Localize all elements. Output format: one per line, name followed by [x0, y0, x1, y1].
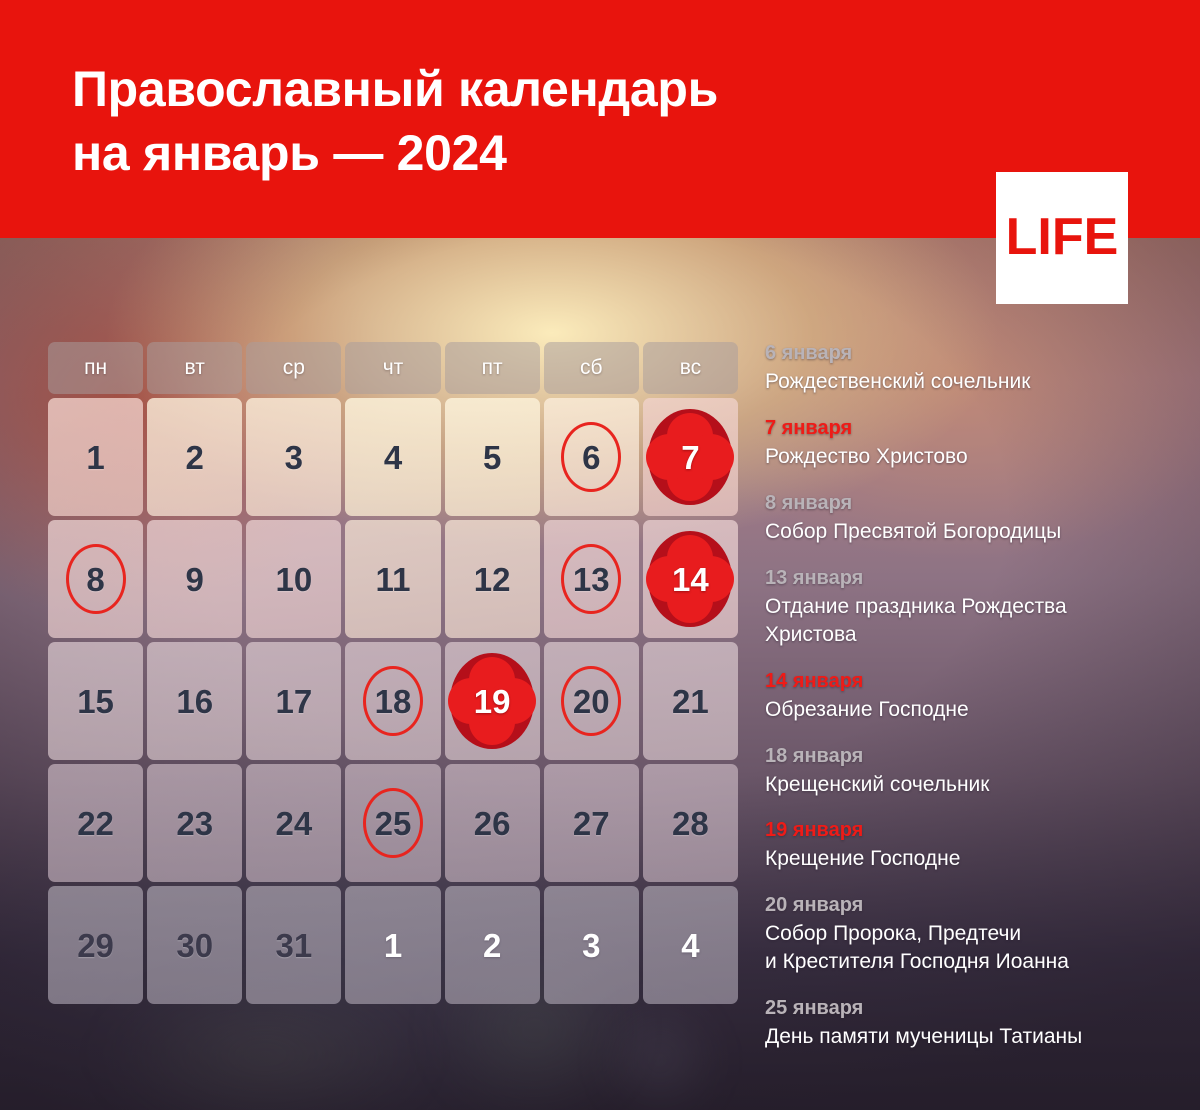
calendar-day-number: 27	[573, 807, 610, 840]
calendar-day-cell[interactable]: 21	[643, 642, 738, 760]
event-name: Отдание праздника Рождества Христова	[765, 593, 1165, 649]
event-item: 14 январяОбрезание Господне	[765, 668, 1165, 724]
calendar-day-number: 23	[176, 807, 213, 840]
calendar-day-cell[interactable]: 25	[345, 764, 440, 882]
calendar-day-cell[interactable]: 19	[445, 642, 540, 760]
calendar-day-cell[interactable]: 3	[246, 398, 341, 516]
weekday-header-пт: пт	[445, 342, 540, 394]
event-date: 8 января	[765, 490, 1165, 517]
calendar-day-number: 21	[672, 685, 709, 718]
calendar-day-number: 4	[384, 441, 402, 474]
calendar-day-cell[interactable]: 22	[48, 764, 143, 882]
calendar-day-number: 14	[672, 563, 709, 596]
calendar-day-cell[interactable]: 31	[246, 886, 341, 1004]
calendar-day-cell[interactable]: 13	[544, 520, 639, 638]
calendar-day-number: 20	[573, 685, 610, 718]
calendar-day-number: 11	[376, 563, 411, 596]
calendar-day-cell[interactable]: 18	[345, 642, 440, 760]
calendar-day-cell[interactable]: 26	[445, 764, 540, 882]
calendar-day-number: 22	[77, 807, 114, 840]
calendar-day-cell[interactable]: 16	[147, 642, 242, 760]
calendar-week-row: 891011121314	[48, 520, 738, 638]
event-date: 14 января	[765, 668, 1165, 695]
event-date: 7 января	[765, 415, 1165, 442]
calendar-week-row: 2930311234	[48, 886, 738, 1004]
event-date: 13 января	[765, 565, 1165, 592]
calendar-day-number: 4	[681, 929, 699, 962]
calendar-day-number: 29	[77, 929, 114, 962]
weekday-header-пн: пн	[48, 342, 143, 394]
event-date: 18 января	[765, 743, 1165, 770]
life-logo: LIFE	[996, 172, 1128, 304]
calendar-day-number: 2	[186, 441, 204, 474]
event-item: 19 январяКрещение Господне	[765, 817, 1165, 873]
event-item: 8 январяСобор Пресвятой Богородицы	[765, 490, 1165, 546]
weekday-header-row: пнвтсрчтптсбвс	[48, 342, 738, 394]
event-name: Собор Пресвятой Богородицы	[765, 518, 1165, 546]
event-name: День памяти мученицы Татианы	[765, 1023, 1165, 1051]
calendar-day-number: 19	[474, 685, 511, 718]
calendar-day-number: 3	[285, 441, 303, 474]
calendar-day-number: 16	[176, 685, 213, 718]
event-item: 13 январяОтдание праздника Рождества Хри…	[765, 565, 1165, 649]
calendar-day-number: 3	[582, 929, 600, 962]
event-item: 6 январяРождественский сочельник	[765, 340, 1165, 396]
events-list: 6 январяРождественский сочельник7 января…	[765, 340, 1165, 1070]
calendar-day-cell[interactable]: 24	[246, 764, 341, 882]
calendar-day-number: 26	[474, 807, 511, 840]
event-name: Рождество Христово	[765, 443, 1165, 471]
calendar-day-cell[interactable]: 15	[48, 642, 143, 760]
calendar-day-number: 15	[77, 685, 114, 718]
event-date: 6 января	[765, 340, 1165, 367]
weekday-header-вс: вс	[643, 342, 738, 394]
calendar-grid: пнвтсрчтптсбвс 1234567891011121314151617…	[48, 342, 738, 1008]
calendar-day-cell[interactable]: 9	[147, 520, 242, 638]
calendar-day-number: 6	[582, 441, 600, 474]
calendar-week-row: 22232425262728	[48, 764, 738, 882]
event-date: 19 января	[765, 817, 1165, 844]
calendar-day-number: 18	[375, 685, 412, 718]
calendar-day-number: 9	[186, 563, 204, 596]
weekday-header-ср: ср	[246, 342, 341, 394]
calendar-day-cell[interactable]: 14	[643, 520, 738, 638]
event-name: Крещенский сочельник	[765, 771, 1165, 799]
calendar-day-cell[interactable]: 17	[246, 642, 341, 760]
calendar-day-number: 12	[474, 563, 511, 596]
calendar-day-number: 25	[375, 807, 412, 840]
calendar-day-cell[interactable]: 10	[246, 520, 341, 638]
calendar-day-number: 5	[483, 441, 501, 474]
calendar-day-number: 28	[672, 807, 709, 840]
calendar-day-number: 1	[384, 929, 402, 962]
calendar-day-number: 2	[483, 929, 501, 962]
infographic-page: Православный календарь на январь — 2024 …	[0, 0, 1200, 1110]
page-title: Православный календарь на январь — 2024	[72, 58, 952, 185]
calendar-week-row: 15161718192021	[48, 642, 738, 760]
calendar-day-cell[interactable]: 2	[147, 398, 242, 516]
weekday-header-чт: чт	[345, 342, 440, 394]
event-name: Обрезание Господне	[765, 696, 1165, 724]
weekday-header-вт: вт	[147, 342, 242, 394]
event-item: 20 январяСобор Пророка, Предтечи и Крест…	[765, 892, 1165, 976]
calendar-day-cell[interactable]: 1	[48, 398, 143, 516]
event-name: Крещение Господне	[765, 845, 1165, 873]
calendar-day-cell[interactable]: 6	[544, 398, 639, 516]
calendar-day-cell[interactable]: 30	[147, 886, 242, 1004]
calendar-day-number: 13	[573, 563, 610, 596]
event-name: Собор Пророка, Предтечи и Крестителя Гос…	[765, 920, 1165, 976]
calendar-day-cell[interactable]: 12	[445, 520, 540, 638]
calendar-day-number: 31	[275, 929, 312, 962]
weekday-header-сб: сб	[544, 342, 639, 394]
event-date: 25 января	[765, 995, 1165, 1022]
calendar-day-cell[interactable]: 23	[147, 764, 242, 882]
event-item: 25 январяДень памяти мученицы Татианы	[765, 995, 1165, 1051]
calendar-week-row: 1234567	[48, 398, 738, 516]
event-date: 20 января	[765, 892, 1165, 919]
calendar-day-cell[interactable]: 8	[48, 520, 143, 638]
calendar-day-cell[interactable]: 1	[345, 886, 440, 1004]
calendar-day-number: 30	[176, 929, 213, 962]
calendar-day-number: 7	[681, 441, 699, 474]
calendar-day-number: 10	[275, 563, 312, 596]
calendar-day-cell[interactable]: 4	[345, 398, 440, 516]
calendar-day-number: 8	[86, 563, 104, 596]
calendar-day-number: 17	[275, 685, 312, 718]
event-item: 7 январяРождество Христово	[765, 415, 1165, 471]
calendar-day-number: 24	[275, 807, 312, 840]
calendar-day-cell[interactable]: 4	[643, 886, 738, 1004]
calendar-day-cell[interactable]: 20	[544, 642, 639, 760]
life-logo-text: LIFE	[1006, 211, 1119, 263]
calendar-day-cell[interactable]: 2	[445, 886, 540, 1004]
calendar-day-cell[interactable]: 7	[643, 398, 738, 516]
calendar-day-cell[interactable]: 11	[345, 520, 440, 638]
calendar-day-cell[interactable]: 29	[48, 886, 143, 1004]
calendar-day-cell[interactable]: 28	[643, 764, 738, 882]
event-name: Рождественский сочельник	[765, 368, 1165, 396]
calendar-day-cell[interactable]: 27	[544, 764, 639, 882]
calendar-day-number: 1	[86, 441, 104, 474]
calendar-day-cell[interactable]: 3	[544, 886, 639, 1004]
calendar-day-cell[interactable]: 5	[445, 398, 540, 516]
event-item: 18 январяКрещенский сочельник	[765, 743, 1165, 799]
